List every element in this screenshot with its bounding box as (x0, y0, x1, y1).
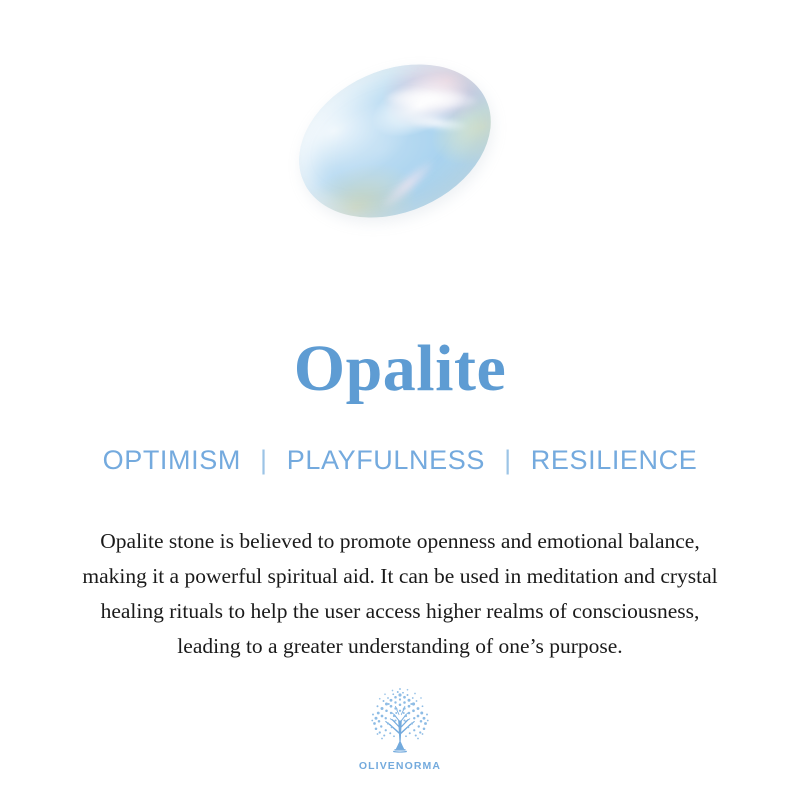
tree-icon (362, 686, 438, 758)
gemstone-info-card: Opalite OPTIMISM | PLAYFULNESS | RESILIE… (0, 0, 800, 800)
description-line: healing rituals to help the user access … (0, 594, 800, 629)
keyword-optimism: OPTIMISM (103, 445, 241, 475)
page-title: Opalite (0, 332, 800, 406)
brand-logo: OLIVENORMA (348, 686, 452, 772)
description-line: Opalite stone is believed to promote ope… (0, 524, 800, 559)
keyword-playfulness: PLAYFULNESS (287, 445, 485, 475)
keyword-separator-2: | (493, 445, 523, 475)
description-text: Opalite stone is believed to promote ope… (0, 524, 800, 664)
hero-image-area (0, 58, 800, 238)
keyword-separator-1: | (249, 445, 279, 475)
keyword-list: OPTIMISM | PLAYFULNESS | RESILIENCE (0, 444, 800, 476)
opalite-stone-image (295, 58, 505, 218)
stone-highlight-secondary (407, 113, 468, 133)
keyword-resilience: RESILIENCE (531, 445, 698, 475)
stone-body (275, 35, 515, 246)
description-line: leading to a greater understanding of on… (0, 629, 800, 664)
stone-highlight-primary (385, 87, 478, 111)
stone-iridescence-flash (377, 156, 438, 213)
description-line: making it a powerful spiritual aid. It c… (0, 559, 800, 594)
brand-name: OLIVENORMA (348, 760, 452, 772)
